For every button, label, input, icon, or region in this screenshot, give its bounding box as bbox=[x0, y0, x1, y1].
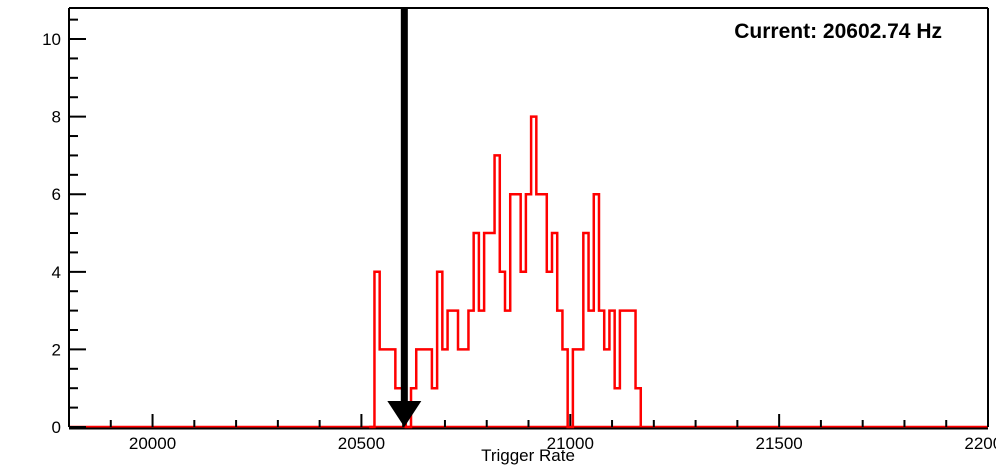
x-axis-title: Trigger Rate bbox=[481, 446, 575, 465]
histogram-plot[interactable]: 0246810 2000020500210002150022000 Trigge… bbox=[0, 0, 996, 472]
x-tick-label: 22000 bbox=[964, 434, 996, 453]
y-tick-label: 10 bbox=[42, 30, 61, 49]
plot-background bbox=[0, 0, 996, 472]
y-tick-label: 0 bbox=[52, 418, 61, 437]
x-tick-label: 21500 bbox=[755, 434, 802, 453]
current-rate-label: Current: 20602.74 Hz bbox=[734, 20, 942, 43]
x-tick-label: 20000 bbox=[129, 434, 176, 453]
y-tick-label: 8 bbox=[52, 108, 61, 127]
root-canvas: 0246810 2000020500210002150022000 Trigge… bbox=[0, 0, 996, 472]
y-tick-label: 4 bbox=[52, 263, 61, 282]
y-tick-label: 6 bbox=[52, 185, 61, 204]
x-tick-label: 20500 bbox=[338, 434, 385, 453]
y-tick-label: 2 bbox=[52, 340, 61, 359]
